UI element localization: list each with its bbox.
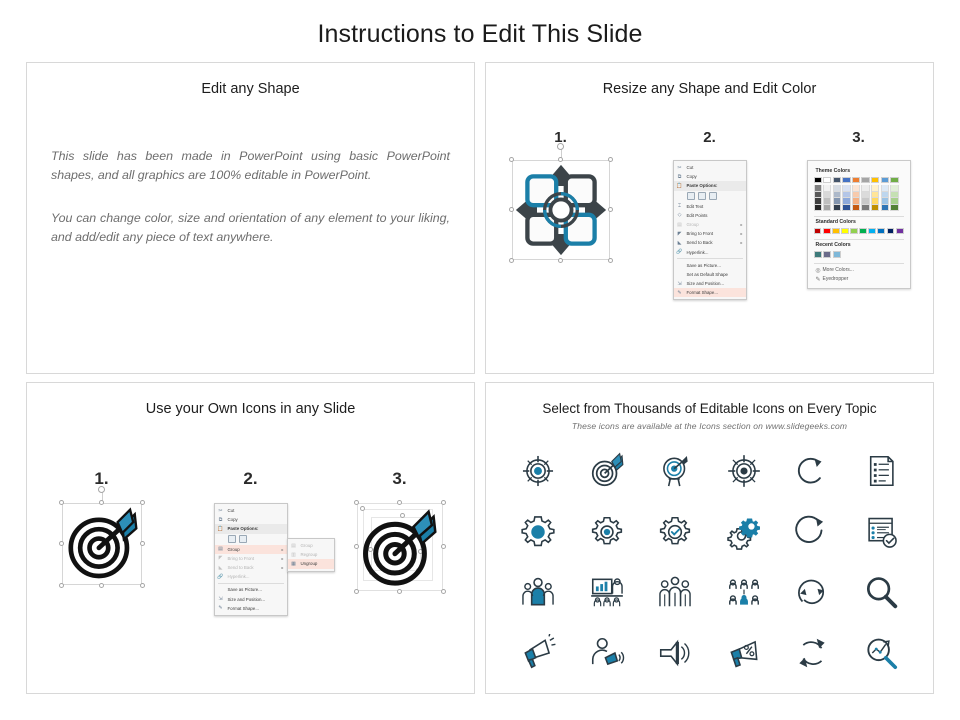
- icon-people-group-filled[interactable]: [518, 572, 558, 612]
- color-picker-separator-2: [814, 239, 904, 240]
- own-step-number-3: 3.: [325, 469, 474, 489]
- menu-item-set-default-shape[interactable]: Set as Default Shape: [674, 270, 746, 279]
- standard-swatch-7[interactable]: [877, 228, 885, 234]
- menu-item-bring-to-front-label: Bring to Front: [228, 556, 282, 561]
- chevron-right-icon: ▸: [740, 231, 742, 236]
- paste-merge-formatting-icon[interactable]: [698, 192, 706, 200]
- theme-colors-row[interactable]: [814, 177, 904, 183]
- theme-swatch-3[interactable]: [842, 177, 850, 183]
- group-submenu[interactable]: ▤ Group ▥ Regroup ▦ Ungroup: [287, 538, 335, 572]
- shape-context-menu[interactable]: ✂ Cut ⧉ Copy 📋 Paste Options:: [673, 160, 747, 300]
- own-icons-step-figures: ✂ Cut ⧉ Copy 📋 Paste Options:: [27, 503, 474, 633]
- menu-item-copy-label: Copy: [687, 174, 743, 179]
- shade-col-6[interactable]: [871, 185, 879, 211]
- person-megaphone-icon: [588, 634, 626, 672]
- submenu-item-regroup-label: Regroup: [301, 552, 331, 557]
- regroup-icon: ▥: [290, 551, 298, 559]
- panel-icon-library-title: Select from Thousands of Editable Icons …: [486, 401, 933, 416]
- shade-5-3[interactable]: [861, 205, 869, 211]
- shade-col-8[interactable]: [890, 185, 898, 211]
- menu-item-edit-text[interactable]: ⌶ Edit Text: [674, 202, 746, 211]
- menu-item-edit-points[interactable]: ◇ Edit Points: [674, 211, 746, 220]
- theme-swatch-7[interactable]: [881, 177, 889, 183]
- icon-checklist-document[interactable]: [861, 451, 901, 491]
- group-icon: ▤: [217, 545, 225, 553]
- menu-item-send-to-back-label: Send to Back: [228, 565, 282, 570]
- menu-item-send-to-back-label: Send to Back: [687, 240, 741, 245]
- default-shape-icon: [676, 270, 684, 278]
- menu-item-group[interactable]: ▤ Group ▸: [215, 545, 287, 554]
- menu-item-paste-options[interactable]: 📋 Paste Options:: [674, 181, 746, 190]
- icon-magnifier[interactable]: [861, 572, 901, 612]
- shade-col-4[interactable]: [852, 185, 860, 211]
- standard-swatch-2[interactable]: [832, 228, 840, 234]
- menu-item-format-shape-label: Format Shape...: [687, 290, 743, 295]
- edit-shape-paragraph-2: You can change color, size and orientati…: [51, 209, 450, 247]
- menu-item-format-shape[interactable]: ✎ Format Shape...: [674, 288, 746, 297]
- recent-swatch-0[interactable]: [814, 251, 822, 257]
- points-icon: ◇: [676, 211, 684, 219]
- theme-swatch-6[interactable]: [871, 177, 879, 183]
- submenu-item-regroup[interactable]: ▥ Regroup: [288, 550, 334, 559]
- ungrouped-icon-selection-frames[interactable]: [357, 503, 443, 591]
- recent-swatch-1[interactable]: [823, 251, 831, 257]
- format-shape-icon: ✎: [676, 289, 684, 297]
- megaphone-percent-icon: [725, 634, 763, 672]
- size-position-icon: ⇲: [217, 595, 225, 603]
- shade-7-3[interactable]: [881, 205, 889, 211]
- submenu-item-group-label: Group: [301, 543, 331, 548]
- scissors-icon: ✂: [217, 507, 225, 515]
- resize-figure-3: Theme Colors: [784, 160, 933, 289]
- shade-3-3[interactable]: [842, 205, 850, 211]
- resizable-shape-icon: [513, 161, 609, 259]
- menu-item-copy-label: Copy: [228, 517, 284, 522]
- menu-item-save-as-picture[interactable]: Save as Picture...: [215, 585, 287, 594]
- panel-icon-library-subtitle: These icons are available at the Icons s…: [486, 421, 933, 431]
- icon-team-group[interactable]: [655, 572, 695, 612]
- color-picker-separator-3: [814, 263, 904, 264]
- theme-swatch-0[interactable]: [814, 177, 822, 183]
- shade-col-1[interactable]: [823, 185, 831, 211]
- standard-swatch-1[interactable]: [823, 228, 831, 234]
- icon-document-approved[interactable]: [861, 512, 901, 552]
- resize-figure-2: ✂ Cut ⧉ Copy 📋 Paste Options:: [635, 160, 784, 300]
- icon-gear-outline[interactable]: [587, 512, 627, 552]
- menu-item-group[interactable]: ▤ Group ▸: [674, 220, 746, 229]
- menu-item-format-shape[interactable]: ✎ Format Shape...: [215, 604, 287, 613]
- submenu-item-ungroup[interactable]: ▦ Ungroup: [288, 559, 334, 568]
- shade-4-3[interactable]: [852, 205, 860, 211]
- page-title: Instructions to Edit This Slide: [0, 0, 960, 58]
- menu-item-cut[interactable]: ✂ Cut: [674, 163, 746, 172]
- menu-item-save-as-picture-label: Save as Picture...: [228, 587, 284, 592]
- send-back-icon: ◣: [676, 239, 684, 247]
- magnifier-icon: [862, 573, 900, 611]
- icon-context-menu[interactable]: ✂ Cut ⧉ Copy 📋 Paste Options:: [214, 503, 288, 616]
- icon-gear-check[interactable]: [655, 512, 695, 552]
- edit-shape-paragraph-1: This slide has been made in PowerPoint u…: [51, 147, 450, 185]
- icon-speaker-sound[interactable]: [655, 633, 695, 673]
- shade-1-3[interactable]: [823, 205, 831, 211]
- menu-item-copy[interactable]: ⧉ Copy: [674, 172, 746, 181]
- panel-own-icons: Use your Own Icons in any Slide 1. 2. 3.: [26, 382, 475, 694]
- clipboard-icon: 📋: [676, 182, 684, 190]
- menu-item-group-label: Group: [228, 547, 282, 552]
- icon-crosshair-target-filled[interactable]: [518, 451, 558, 491]
- recent-colors-label: Recent Colors: [816, 242, 904, 248]
- palette-icon: ◎: [814, 267, 823, 274]
- icon-double-gear[interactable]: [724, 512, 764, 552]
- menu-item-bring-to-front[interactable]: ◤ Bring to Front ▸: [215, 554, 287, 563]
- icon-two-way-sync[interactable]: [792, 572, 832, 612]
- resize-step-figures: ✂ Cut ⧉ Copy 📋 Paste Options:: [486, 160, 933, 320]
- paste-option-buttons[interactable]: [215, 534, 287, 545]
- icon-gear-filled[interactable]: [518, 512, 558, 552]
- submenu-item-group[interactable]: ▤ Group: [288, 541, 334, 550]
- shade-0-3[interactable]: [814, 205, 822, 211]
- link-icon: 🔗: [676, 248, 684, 256]
- theme-colors-label: Theme Colors: [816, 168, 904, 174]
- theme-swatch-4[interactable]: [852, 177, 860, 183]
- menu-item-save-as-picture-label: Save as Picture...: [687, 263, 743, 268]
- panel-grid: Edit any Shape This slide has been made …: [26, 62, 934, 694]
- menu-item-bring-to-front[interactable]: ◤ Bring to Front ▸: [674, 229, 746, 238]
- panel-resize-shape: Resize any Shape and Edit Color 1. 2. 3.: [485, 62, 934, 374]
- menu-item-save-as-picture[interactable]: Save as Picture...: [674, 261, 746, 270]
- own-icons-figure-2: ✂ Cut ⧉ Copy 📋 Paste Options:: [176, 503, 325, 616]
- double-gear-icon: [725, 513, 763, 551]
- menu-item-group-label: Group: [687, 222, 741, 227]
- send-back-icon: ◣: [217, 564, 225, 572]
- own-icons-figure-1: [27, 503, 176, 585]
- menu-item-bring-to-front-label: Bring to Front: [687, 231, 741, 236]
- paste-picture-icon[interactable]: [709, 192, 717, 200]
- menu-item-paste-options[interactable]: 📋 Paste Options:: [215, 524, 287, 533]
- document-approved-icon: [862, 513, 900, 551]
- more-colors-label: More Colors...: [823, 267, 854, 273]
- chevron-right-icon: ▸: [281, 556, 283, 561]
- panel-edit-shape: Edit any Shape This slide has been made …: [26, 62, 475, 374]
- paste-picture-icon[interactable]: [239, 535, 247, 543]
- theme-swatch-1[interactable]: [823, 177, 831, 183]
- panel-resize-shape-title: Resize any Shape and Edit Color: [486, 81, 933, 97]
- menu-separator: [677, 258, 743, 259]
- two-way-sync-icon: [793, 573, 831, 611]
- gear-outline-icon: [588, 513, 626, 551]
- resize-step-numbers: 1. 2. 3.: [486, 129, 933, 146]
- menu-item-cut[interactable]: ✂ Cut: [215, 506, 287, 515]
- shade-6-3[interactable]: [871, 205, 879, 211]
- standard-swatch-6[interactable]: [868, 228, 876, 234]
- menu-item-paste-options-label: Paste Options:: [687, 183, 743, 188]
- rotation-handle-icon[interactable]: [98, 486, 105, 493]
- resize-figure-1: [486, 160, 635, 260]
- standard-swatch-3[interactable]: [841, 228, 849, 234]
- paste-keep-formatting-icon[interactable]: [687, 192, 695, 200]
- picture-icon: [676, 261, 684, 269]
- grouped-icon-selection-frame[interactable]: [62, 503, 142, 585]
- link-icon: 🔗: [217, 573, 225, 581]
- target-arrow-icon: [588, 452, 626, 490]
- menu-item-size-and-position[interactable]: ⇲ Size and Position...: [215, 595, 287, 604]
- standard-swatch-0[interactable]: [814, 228, 822, 234]
- menu-item-edit-points-label: Edit Points: [687, 213, 743, 218]
- refresh-arrow-icon: [793, 452, 831, 490]
- color-picker-panel[interactable]: Theme Colors: [807, 160, 911, 289]
- checklist-document-icon: [862, 452, 900, 490]
- panel-edit-shape-title: Edit any Shape: [27, 81, 474, 97]
- presentation-audience-icon: [588, 573, 626, 611]
- standard-swatch-4[interactable]: [850, 228, 858, 234]
- standard-colors-label: Standard Colors: [816, 219, 904, 225]
- theme-swatch-2[interactable]: [833, 177, 841, 183]
- target-arrow-grouped-icon: [63, 504, 141, 584]
- menu-item-edit-text-label: Edit Text: [687, 204, 743, 209]
- panel-own-icons-title: Use your Own Icons in any Slide: [27, 401, 474, 417]
- submenu-item-ungroup-label: Ungroup: [301, 561, 331, 566]
- menu-item-hyperlink-label: Hyperlink...: [228, 574, 284, 579]
- org-chart-team-icon: [725, 573, 763, 611]
- icon-library-grid: [504, 441, 915, 683]
- icon-person-megaphone[interactable]: [587, 633, 627, 673]
- more-colors-button[interactable]: ◎ More Colors...: [814, 266, 904, 275]
- recent-colors-row[interactable]: [814, 251, 904, 257]
- icon-crosshair-target[interactable]: [724, 451, 764, 491]
- shade-2-3[interactable]: [833, 205, 841, 211]
- icon-target-stand[interactable]: [655, 451, 695, 491]
- own-icons-step-numbers: 1. 2. 3.: [27, 469, 474, 489]
- chevron-right-icon: ▸: [740, 240, 742, 245]
- icon-presentation-audience[interactable]: [587, 572, 627, 612]
- paste-keep-formatting-icon[interactable]: [228, 535, 236, 543]
- icon-megaphone-percent[interactable]: [724, 633, 764, 673]
- paste-option-buttons[interactable]: [674, 191, 746, 202]
- standard-swatch-5[interactable]: [859, 228, 867, 234]
- group-icon: ▤: [290, 542, 298, 550]
- people-group-filled-icon: [519, 573, 557, 611]
- magnifier-chart-icon: [862, 634, 900, 672]
- bring-front-icon: ◤: [217, 554, 225, 562]
- panel-icon-library: Select from Thousands of Editable Icons …: [485, 382, 934, 694]
- menu-item-size-and-position-label: Size and Position...: [228, 597, 284, 602]
- team-group-icon: [656, 573, 694, 611]
- standard-swatch-8[interactable]: [887, 228, 895, 234]
- theme-swatch-8[interactable]: [890, 177, 898, 183]
- copy-icon: ⧉: [217, 516, 225, 524]
- menu-item-cut-label: Cut: [687, 165, 743, 170]
- scissors-icon: ✂: [676, 164, 684, 172]
- standard-colors-row[interactable]: [814, 228, 904, 234]
- target-arrow-ungrouped-icon: [358, 504, 442, 590]
- menu-separator: [218, 583, 284, 584]
- gear-check-icon: [656, 513, 694, 551]
- shade-8-3[interactable]: [890, 205, 898, 211]
- bring-front-icon: ◤: [676, 230, 684, 238]
- target-stand-icon: [656, 452, 694, 490]
- picture-icon: [217, 586, 225, 594]
- menu-item-copy[interactable]: ⧉ Copy: [215, 515, 287, 524]
- speaker-sound-icon: [656, 634, 694, 672]
- own-step-number-2: 2.: [176, 469, 325, 489]
- menu-item-size-and-position-label: Size and Position...: [687, 281, 743, 286]
- step-number-2: 2.: [635, 129, 784, 146]
- theme-shades-grid[interactable]: [814, 185, 904, 211]
- group-icon: ▤: [676, 221, 684, 229]
- format-shape-icon: ✎: [217, 604, 225, 612]
- eyedropper-label: Eyedropper: [823, 276, 849, 282]
- color-picker-separator-1: [814, 216, 904, 217]
- rotation-handle-icon[interactable]: [557, 143, 564, 150]
- eyedropper-button[interactable]: ✎ Eyedropper: [814, 275, 904, 284]
- icon-target-arrow[interactable]: [587, 451, 627, 491]
- menu-item-send-to-back[interactable]: ◣ Send to Back ▸: [674, 238, 746, 247]
- eyedropper-icon: ✎: [814, 276, 823, 283]
- slide-canvas: Instructions to Edit This Slide Edit any…: [0, 0, 960, 720]
- gear-filled-icon: [519, 513, 557, 551]
- ungroup-icon: ▦: [290, 560, 298, 568]
- shade-col-5[interactable]: [861, 185, 869, 211]
- shade-col-0[interactable]: [814, 185, 822, 211]
- theme-swatch-5[interactable]: [861, 177, 869, 183]
- icon-org-chart-team[interactable]: [724, 572, 764, 612]
- menu-item-send-to-back[interactable]: ◣ Send to Back ▸: [215, 563, 287, 572]
- menu-item-cut-label: Cut: [228, 508, 284, 513]
- clipboard-icon: 📋: [217, 525, 225, 533]
- circular-arrows-icon: [793, 634, 831, 672]
- shade-col-2[interactable]: [833, 185, 841, 211]
- menu-item-format-shape-label: Format Shape...: [228, 606, 284, 611]
- icon-magnifier-chart[interactable]: [861, 633, 901, 673]
- recent-swatch-2[interactable]: [833, 251, 841, 257]
- menu-item-hyperlink[interactable]: 🔗 Hyperlink...: [215, 572, 287, 581]
- crosshair-target-filled-icon: [519, 452, 557, 490]
- crosshair-target-icon: [725, 452, 763, 490]
- step-number-3: 3.: [784, 129, 933, 146]
- chevron-right-icon: ▸: [740, 222, 742, 227]
- shade-col-7[interactable]: [881, 185, 889, 211]
- menu-item-set-default-shape-label: Set as Default Shape: [687, 272, 743, 277]
- menu-item-size-and-position[interactable]: ⇲ Size and Position...: [674, 279, 746, 288]
- shade-col-3[interactable]: [842, 185, 850, 211]
- menu-item-hyperlink-label: Hyperlink...: [687, 250, 743, 255]
- icon-circular-arrow[interactable]: [792, 512, 832, 552]
- shape-selection-frame[interactable]: [512, 160, 610, 260]
- megaphone-filled-icon: [519, 634, 557, 672]
- icon-circular-arrows[interactable]: [792, 633, 832, 673]
- icon-megaphone-filled[interactable]: [518, 633, 558, 673]
- circular-arrow-icon: [793, 513, 831, 551]
- own-icons-figure-3: [325, 503, 474, 591]
- text-icon: ⌶: [676, 202, 684, 210]
- chevron-right-icon: ▸: [281, 565, 283, 570]
- chevron-right-icon: ▸: [281, 547, 283, 552]
- menu-item-paste-options-label: Paste Options:: [228, 526, 284, 531]
- menu-item-hyperlink[interactable]: 🔗 Hyperlink...: [674, 248, 746, 257]
- copy-icon: ⧉: [676, 173, 684, 181]
- icon-refresh-arrow[interactable]: [792, 451, 832, 491]
- standard-swatch-9[interactable]: [896, 228, 904, 234]
- size-position-icon: ⇲: [676, 280, 684, 288]
